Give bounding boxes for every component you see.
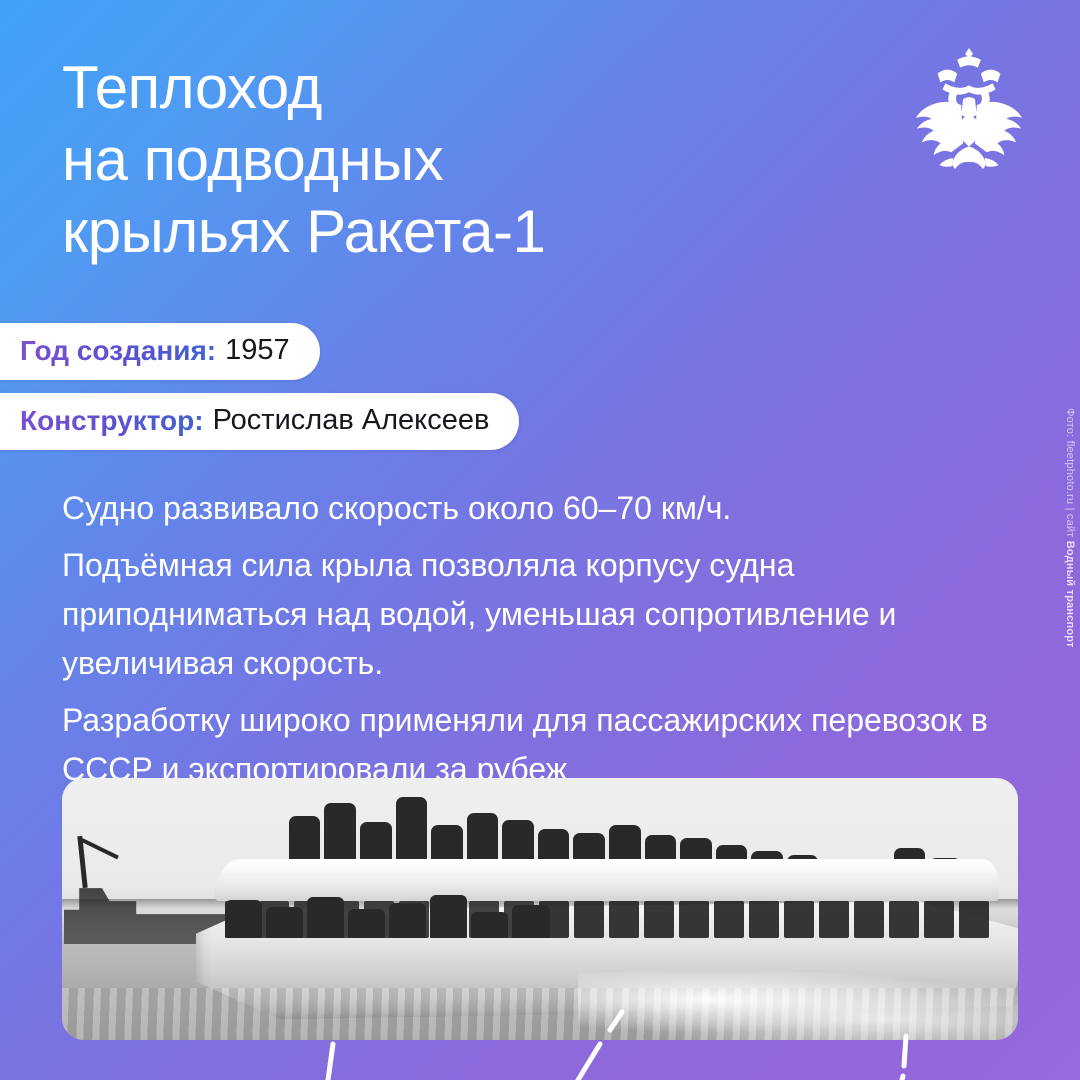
body-paragraph-1: Судно развивало скорость около 60–70 км/… <box>62 484 1037 533</box>
body-copy: Судно развивало скорость около 60–70 км/… <box>62 484 1037 794</box>
fact-value-designer: Ростислав Алексеев <box>213 404 490 437</box>
fact-pill-year: Год создания: 1957 <box>0 323 320 380</box>
upper-deck-crowd <box>253 794 960 867</box>
page-title: Теплоход на подводных крыльях Ракета-1 <box>62 52 862 268</box>
crane-icon <box>74 836 134 888</box>
decorative-dashes <box>0 1000 1080 1080</box>
fact-value-year: 1957 <box>225 334 290 367</box>
fact-label-designer: Конструктор: <box>20 405 204 437</box>
photo-credit-prefix: Фото: fleetphoto.ru | сайт <box>1064 408 1076 541</box>
fact-label-year: Год создания: <box>20 335 216 367</box>
infographic-card: Теплоход на подводных крыльях Ракета-1 Г… <box>0 0 1080 1080</box>
fact-pill-designer: Конструктор: Ростислав Алексеев <box>0 393 519 450</box>
photo-credit-source: Водный транспорт <box>1064 541 1076 648</box>
lower-deck-crowd <box>225 893 550 938</box>
double-headed-eagle-icon <box>910 44 1028 172</box>
body-paragraph-2: Подъёмная сила крыла позволяла корпусу с… <box>62 541 1037 688</box>
photo-credit: Фото: fleetphoto.ru | сайт Водный трансп… <box>1064 408 1076 648</box>
